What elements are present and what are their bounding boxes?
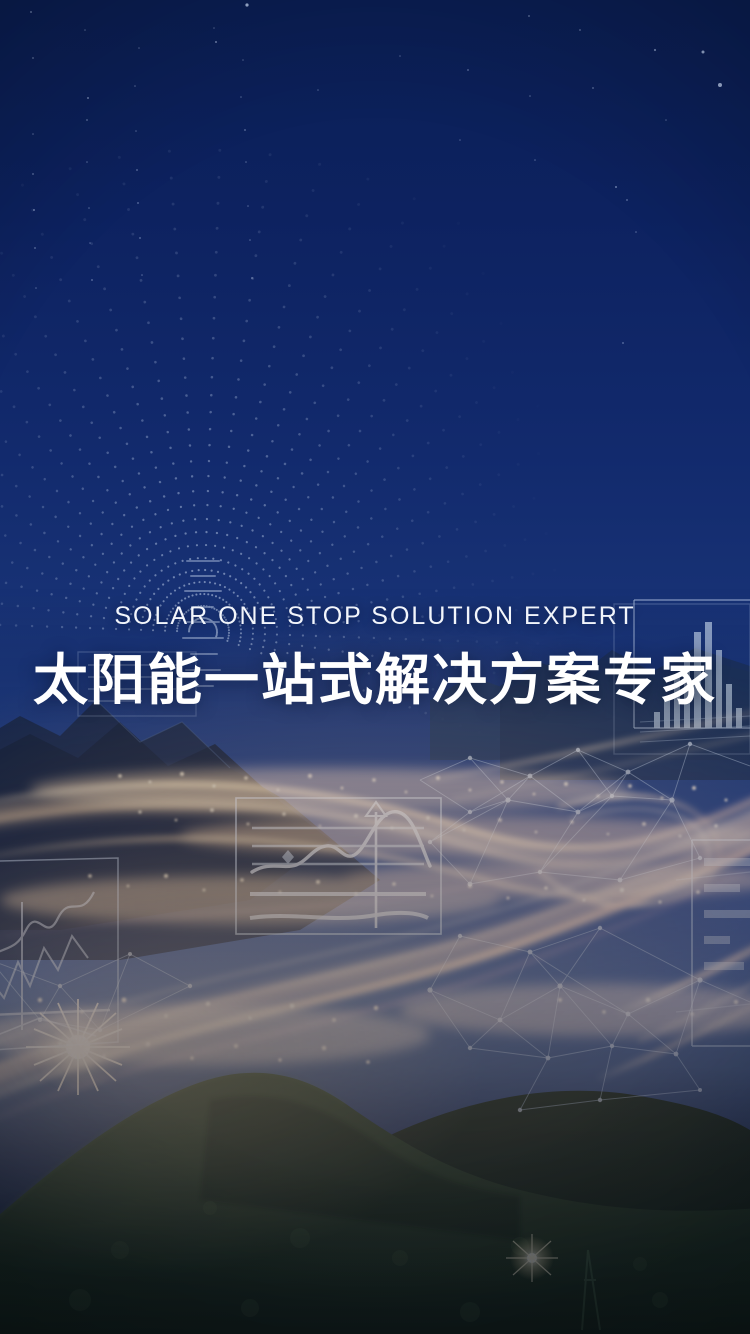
hero-banner: SOLAR ONE STOP SOLUTION EXPERT 太阳能一站式解决方…	[0, 0, 750, 1334]
hero-subtitle: SOLAR ONE STOP SOLUTION EXPERT	[0, 604, 750, 629]
line-chart-panel-left	[0, 858, 118, 1052]
hero-text-block: SOLAR ONE STOP SOLUTION EXPERT 太阳能一站式解决方…	[0, 604, 750, 710]
hero-headline: 太阳能一站式解决方案专家	[0, 651, 750, 710]
bar-rows-panel-right	[676, 840, 750, 1046]
line-chart-panel-center	[236, 798, 441, 934]
